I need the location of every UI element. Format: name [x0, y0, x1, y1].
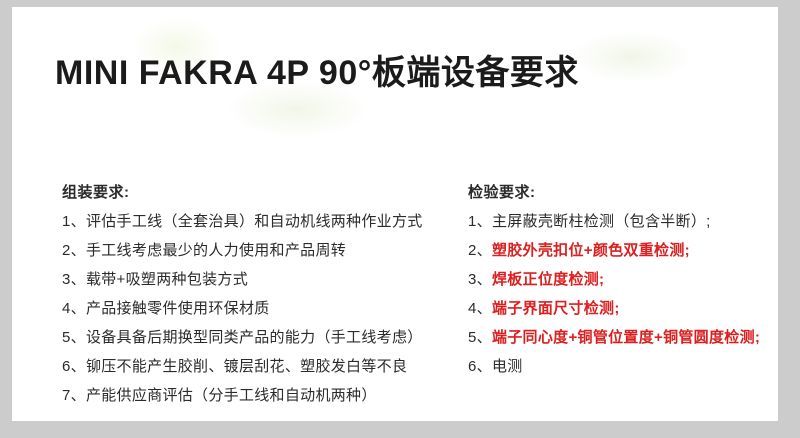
list-item: 4、 产品接触零件使用环保材质: [62, 298, 452, 327]
list-item-text: 铆压不能产生胶削、镀层刮花、塑胶发白等不良: [86, 356, 452, 377]
list-item-number: 6、: [62, 356, 86, 377]
assembly-requirements-column: 组装要求: 1、 评估手工线（全套治具）和自动机线两种作业方式 2、 手工线考虑…: [62, 182, 452, 414]
list-item: 1、 评估手工线（全套治具）和自动机线两种作业方式: [62, 211, 452, 240]
list-item-text: 焊板正位度检测;: [492, 269, 768, 290]
list-item-text: 端子同心度+铜管位置度+铜管圆度检测;: [492, 327, 768, 348]
slide-canvas: MINI FAKRA 4P 90°板端设备要求 组装要求: 1、 评估手工线（全…: [12, 7, 778, 421]
list-item-number: 3、: [62, 269, 86, 290]
list-item-number: 2、: [468, 240, 492, 261]
list-item-number: 3、: [468, 269, 492, 290]
list-item: 2、 手工线考虑最少的人力使用和产品周转: [62, 240, 452, 269]
list-item-number: 6、: [468, 356, 492, 377]
list-item-text: 端子界面尺寸检测;: [492, 298, 768, 319]
list-item-number: 1、: [62, 211, 86, 232]
list-item-number: 5、: [468, 327, 492, 348]
list-item: 1、 主屏蔽壳断柱检测（包含半断）;: [468, 211, 768, 240]
list-item-text: 电测: [492, 356, 768, 377]
list-item-text: 产能供应商评估（分手工线和自动机两种）: [86, 385, 452, 406]
list-item: 7、 产能供应商评估（分手工线和自动机两种）: [62, 385, 452, 414]
list-item: 3、 载带+吸塑两种包装方式: [62, 269, 452, 298]
list-item-number: 5、: [62, 327, 86, 348]
assembly-requirements-header: 组装要求:: [62, 182, 452, 211]
page-title: MINI FAKRA 4P 90°板端设备要求: [55, 45, 579, 94]
list-item: 6、 电测: [468, 356, 768, 385]
list-item: 3、 焊板正位度检测;: [468, 269, 768, 298]
list-item-text: 载带+吸塑两种包装方式: [86, 269, 452, 290]
list-item-number: 4、: [62, 298, 86, 319]
inspection-requirements-header: 检验要求:: [468, 182, 768, 211]
list-item-text: 产品接触零件使用环保材质: [86, 298, 452, 319]
list-item-number: 4、: [468, 298, 492, 319]
list-item-number: 2、: [62, 240, 86, 261]
list-item-text: 手工线考虑最少的人力使用和产品周转: [86, 240, 452, 261]
list-item-text: 设备具备后期换型同类产品的能力（手工线考虑）: [86, 327, 452, 348]
list-item-text: 评估手工线（全套治具）和自动机线两种作业方式: [86, 211, 452, 232]
list-item: 5、 端子同心度+铜管位置度+铜管圆度检测;: [468, 327, 768, 356]
inspection-requirements-column: 检验要求: 1、 主屏蔽壳断柱检测（包含半断）; 2、 塑胶外壳扣位+颜色双重检…: [468, 182, 768, 385]
list-item-text: 塑胶外壳扣位+颜色双重检测;: [492, 240, 768, 261]
list-item-text: 主屏蔽壳断柱检测（包含半断）;: [492, 211, 768, 232]
list-item: 6、 铆压不能产生胶削、镀层刮花、塑胶发白等不良: [62, 356, 452, 385]
list-item-number: 1、: [468, 211, 492, 232]
list-item-number: 7、: [62, 385, 86, 406]
light-bloom-artifact: [572, 32, 692, 82]
list-item: 4、 端子界面尺寸检测;: [468, 298, 768, 327]
list-item: 2、 塑胶外壳扣位+颜色双重检测;: [468, 240, 768, 269]
list-item: 5、 设备具备后期换型同类产品的能力（手工线考虑）: [62, 327, 452, 356]
